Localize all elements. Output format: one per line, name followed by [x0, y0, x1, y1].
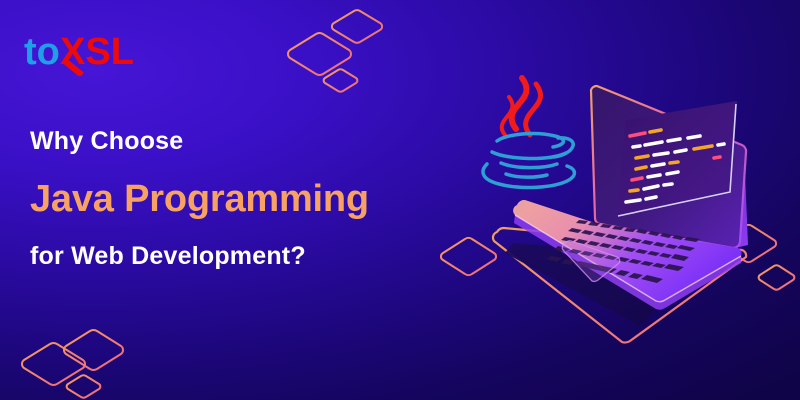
diamond-cluster-right — [721, 225, 794, 290]
laptop-base-left-edge — [515, 200, 525, 215]
diamond-icon — [324, 69, 358, 91]
diamond-icon — [64, 330, 123, 370]
laptop-base — [513, 200, 741, 310]
code-line — [636, 144, 724, 158]
diamond-cluster-top — [288, 10, 382, 91]
laptop-keyboard — [545, 220, 700, 283]
code-line — [630, 130, 661, 136]
code-line — [626, 197, 656, 202]
laptop-platform-outline — [493, 228, 746, 343]
laptop-base-front-edge — [514, 215, 741, 310]
code-line — [633, 136, 700, 147]
java-cup-icon — [483, 134, 574, 188]
laptop-trackpad — [562, 241, 619, 282]
laptop-lid-front — [591, 86, 746, 248]
java-coffee-cup-logo — [483, 78, 574, 187]
laptop-base-rim-highlight — [515, 215, 741, 302]
diamond-icon — [22, 343, 85, 385]
screen-inner-bezel — [617, 101, 737, 218]
headline-line-3: for Web Development? — [30, 243, 430, 271]
laptop-lid-back — [688, 149, 748, 257]
laptop-base-top — [513, 200, 741, 302]
screen-code-block — [626, 130, 724, 202]
diamond-cluster-bottom-left — [22, 330, 123, 398]
code-line — [636, 162, 678, 169]
diamond-left — [441, 238, 496, 275]
diamond-icon — [67, 375, 101, 397]
screen-highlight-edge — [618, 104, 736, 216]
java-promo-banner: to XSL Why Choose Java Programming for W… — [0, 0, 800, 400]
code-cursor — [714, 157, 720, 158]
screen-surface — [617, 101, 737, 218]
diamond-icon — [288, 33, 351, 75]
logo-text-to: to — [24, 31, 60, 73]
toxsl-logo[interactable]: to XSL — [24, 28, 144, 76]
laptop-screen — [617, 101, 737, 218]
keyboard-keys — [546, 220, 700, 283]
laptop-shadow — [505, 243, 700, 326]
laptop-trackpad-fill — [562, 241, 619, 282]
code-line — [630, 184, 672, 191]
headline-block: Why Choose Java Programming for Web Deve… — [30, 128, 430, 271]
diamond-icon — [759, 265, 795, 289]
diamond-icon — [721, 225, 776, 262]
headline-line-2: Java Programming — [30, 178, 430, 222]
laptop-lid-edge-highlight — [591, 86, 746, 248]
code-line — [632, 172, 678, 180]
diamond-icon — [441, 238, 496, 275]
headline-line-1: Why Choose — [30, 128, 430, 156]
diamond-icon — [332, 10, 382, 43]
java-steam-icon — [502, 78, 541, 135]
laptop-lid — [591, 86, 748, 257]
